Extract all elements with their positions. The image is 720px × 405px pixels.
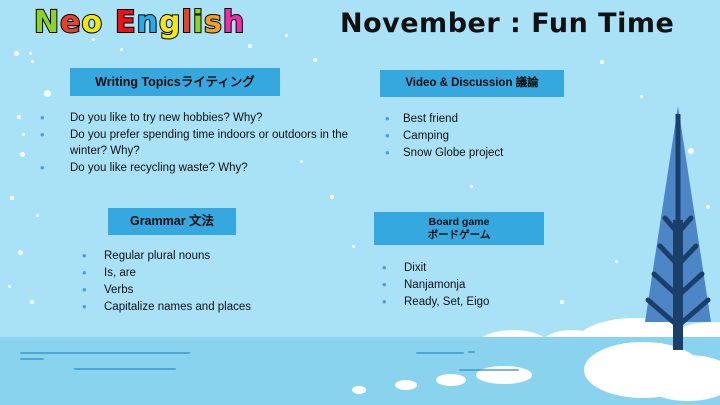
list-item-label: Nanjamonja [404, 277, 465, 293]
bullet-icon: • [82, 299, 104, 315]
logo-neo-english: Neo English [34, 8, 245, 38]
list-item-label: Verbs [104, 282, 133, 298]
snow-texture-line [468, 351, 475, 353]
snowflake-dot [36, 214, 39, 217]
banner-board-game-line1: Board game [428, 216, 491, 228]
banner-grammar: Grammar 文法 [108, 208, 236, 235]
list-item: •Do you prefer spending time indoors or … [40, 127, 375, 159]
snow-drift [352, 386, 366, 394]
snowflake-dot [44, 90, 51, 97]
snow-texture-line [20, 358, 44, 360]
list-item-label: Do you like recycling waste? Why? [70, 160, 248, 176]
snowflake-dot [30, 300, 34, 304]
snowflake-dot [120, 48, 123, 51]
logo-letter: n [137, 8, 159, 38]
logo-letter: i [193, 8, 204, 38]
banner-writing-topics: Writing Topicsライティング [70, 68, 280, 96]
background-decoration [0, 0, 720, 405]
snowflake-dot [8, 285, 11, 288]
logo-letter: E [115, 8, 137, 38]
bullet-icon: • [40, 110, 70, 126]
list-board-game: •Dixit•Nanjamonja•Ready, Set, Eigo [382, 260, 582, 311]
logo-letter: l [181, 8, 192, 38]
list-item-label: Capitalize names and places [104, 299, 251, 315]
bullet-icon: • [382, 277, 404, 293]
logo-letter: o [81, 8, 103, 38]
bullet-icon: • [382, 294, 404, 310]
snowflake-dot [313, 58, 317, 62]
snowflake-dot [352, 245, 355, 248]
list-item-label: Camping [403, 128, 449, 144]
pine-tree-icon [632, 100, 720, 350]
snow-texture-line [74, 368, 176, 370]
list-item: •Nanjamonja [382, 277, 582, 293]
list-item: •Do you like recycling waste? Why? [40, 160, 375, 176]
snowflake-dot [10, 196, 14, 200]
page-title: November : Fun Time [340, 8, 660, 39]
logo-letter: s [204, 8, 223, 38]
list-video-discussion: •Best friend•Camping•Snow Globe project [385, 111, 595, 162]
list-item-label: Snow Globe project [403, 145, 503, 161]
list-item: •Regular plural nouns [82, 248, 312, 264]
list-item: •Best friend [385, 111, 595, 127]
snowflake-dot [22, 133, 25, 136]
bullet-icon: • [40, 127, 70, 143]
list-item: •Capitalize names and places [82, 299, 312, 315]
slide-canvas: Neo English November : Fun Time Writing … [0, 0, 720, 405]
list-item-label: Ready, Set, Eigo [404, 294, 489, 310]
bullet-icon: • [82, 248, 104, 264]
list-item: •Is, are [82, 265, 312, 281]
snowflake-dot [615, 260, 618, 263]
banner-board-game: Board game ボードゲーム [374, 212, 544, 245]
bullet-icon: • [385, 145, 403, 161]
snow-drift [395, 380, 417, 390]
list-writing-topics: •Do you like to try new hobbies? Why?•Do… [40, 110, 375, 177]
snowflake-dot [470, 185, 473, 188]
list-grammar: •Regular plural nouns•Is, are•Verbs•Capi… [82, 248, 312, 316]
bullet-icon: • [385, 128, 403, 144]
list-item-label: Is, are [104, 265, 136, 281]
bullet-icon: • [82, 265, 104, 281]
snow-texture-line [20, 352, 190, 354]
snow-texture-line [459, 369, 519, 371]
snowflake-dot [248, 44, 252, 48]
snowflake-dot [17, 115, 21, 119]
snowflake-dot [285, 34, 288, 37]
snowflake-dot [29, 52, 32, 55]
logo-letter: N [34, 8, 60, 38]
snow-drift [436, 374, 466, 386]
logo-letter: g [159, 8, 181, 38]
snowflake-dot [31, 60, 34, 63]
snowflake-dot [18, 250, 23, 255]
snowflake-dot [640, 95, 643, 98]
list-item: •Snow Globe project [385, 145, 595, 161]
list-item-label: Regular plural nouns [104, 248, 210, 264]
snowflake-dot [20, 152, 25, 157]
list-item: •Ready, Set, Eigo [382, 294, 582, 310]
logo-letter [103, 8, 115, 38]
list-item: •Verbs [82, 282, 312, 298]
snowflake-dot [14, 51, 19, 56]
snowflake-dot [600, 60, 604, 64]
list-item: •Camping [385, 128, 595, 144]
bullet-icon: • [40, 160, 70, 176]
list-item-label: Do you prefer spending time indoors or o… [70, 127, 375, 159]
snow-texture-line [416, 352, 464, 354]
banner-video-discussion: Video & Discussion 議論 [380, 70, 564, 97]
logo-letter: h [223, 8, 245, 38]
list-item: •Dixit [382, 260, 582, 276]
bullet-icon: • [385, 111, 403, 127]
list-item-label: Best friend [403, 111, 458, 127]
list-item-label: Dixit [404, 260, 426, 276]
list-item: •Do you like to try new hobbies? Why? [40, 110, 375, 126]
logo-letter: e [60, 8, 81, 38]
bullet-icon: • [82, 282, 104, 298]
snowflake-dot [330, 195, 334, 199]
banner-board-game-line2: ボードゲーム [428, 229, 491, 241]
bullet-icon: • [382, 260, 404, 276]
list-item-label: Do you like to try new hobbies? Why? [70, 110, 262, 126]
